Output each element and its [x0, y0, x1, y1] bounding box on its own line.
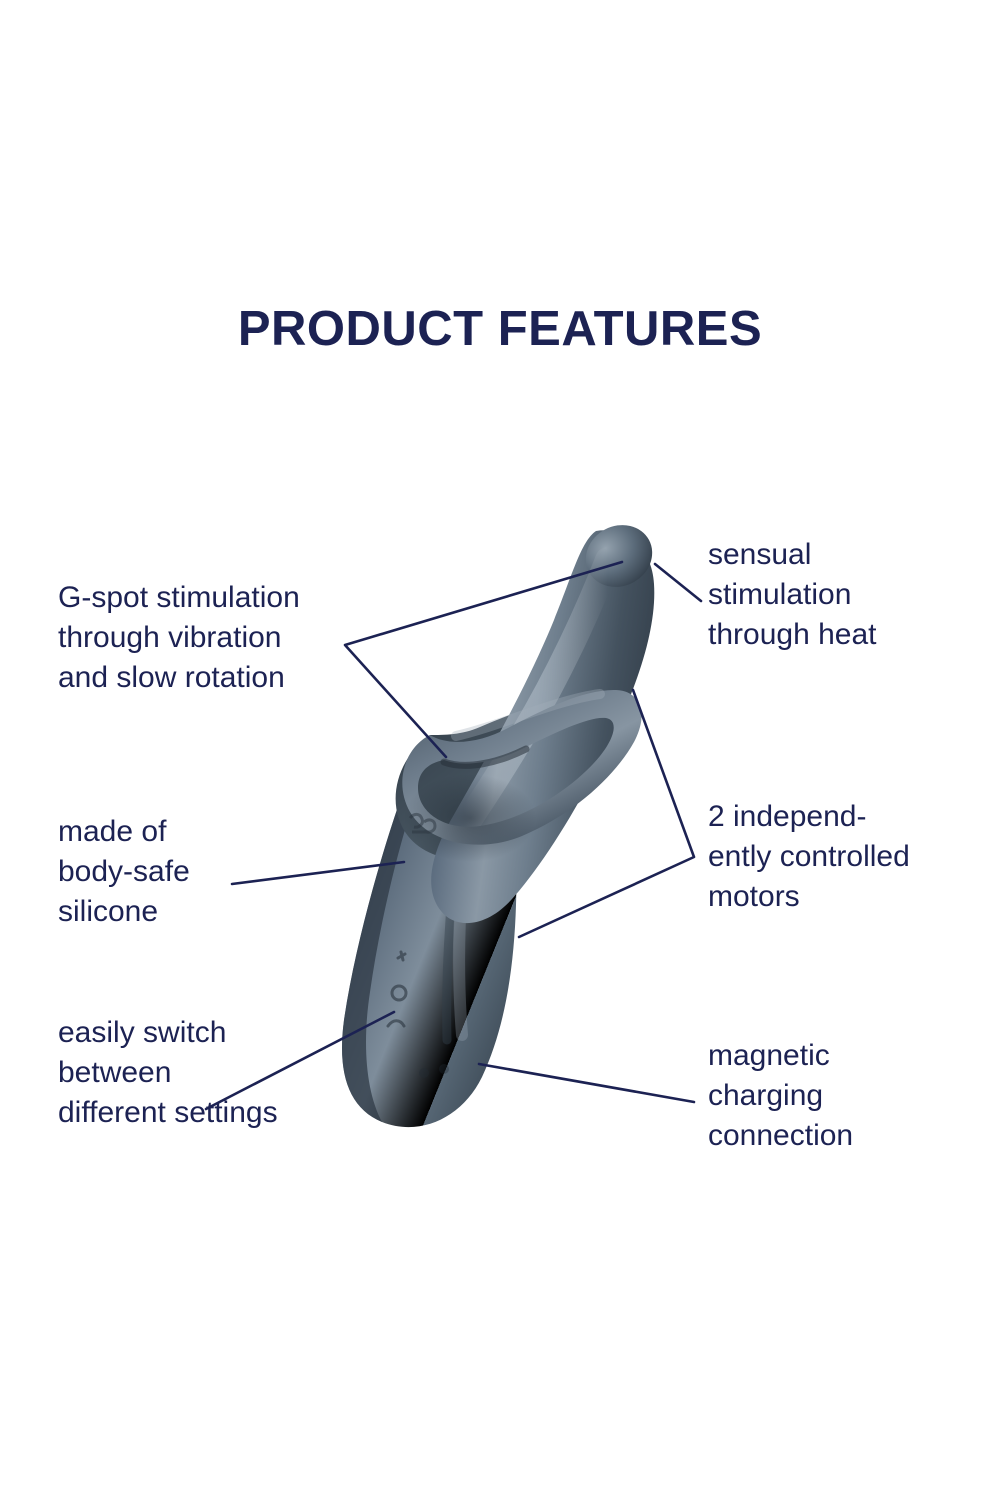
callout-line: different settings [58, 1093, 278, 1133]
callout-line: connection [708, 1116, 853, 1156]
callout-magnetic-charging: magnetic charging connection [708, 1036, 853, 1156]
callout-line: through heat [708, 615, 876, 655]
callout-line: sensual [708, 535, 876, 575]
product-diagram [0, 0, 1000, 1500]
callout-sensual-stimulation-heat: sensual stimulation through heat [708, 535, 876, 655]
callout-line: easily switch [58, 1013, 278, 1053]
leader-line-magnetic [479, 1064, 694, 1102]
product-contact-shadow [404, 774, 536, 862]
callout-body-safe-silicone: made of body-safe silicone [58, 812, 190, 932]
callout-line: silicone [58, 892, 190, 932]
callout-line: between [58, 1053, 278, 1093]
callout-line: stimulation [708, 575, 876, 615]
callout-line: made of [58, 812, 190, 852]
callout-line: through vibration [58, 618, 300, 658]
callout-line: ently controlled [708, 837, 910, 877]
callout-easily-switch-settings: easily switch between different settings [58, 1013, 278, 1133]
callout-line: and slow rotation [58, 658, 300, 698]
callout-line: magnetic [708, 1036, 853, 1076]
leader-line-heat [655, 564, 701, 601]
product-illustration [342, 514, 663, 1128]
product-features-page: PRODUCT FEATURES [0, 0, 1000, 1500]
callout-line: charging [708, 1076, 853, 1116]
callout-line: 2 independ- [708, 797, 910, 837]
callout-line: G-spot stimulation [58, 578, 300, 618]
callout-gspot-stimulation: G-spot stimulation through vibration and… [58, 578, 300, 698]
callout-line: motors [708, 877, 910, 917]
callout-independent-motors: 2 independ- ently controlled motors [708, 797, 910, 917]
callout-line: body-safe [58, 852, 190, 892]
